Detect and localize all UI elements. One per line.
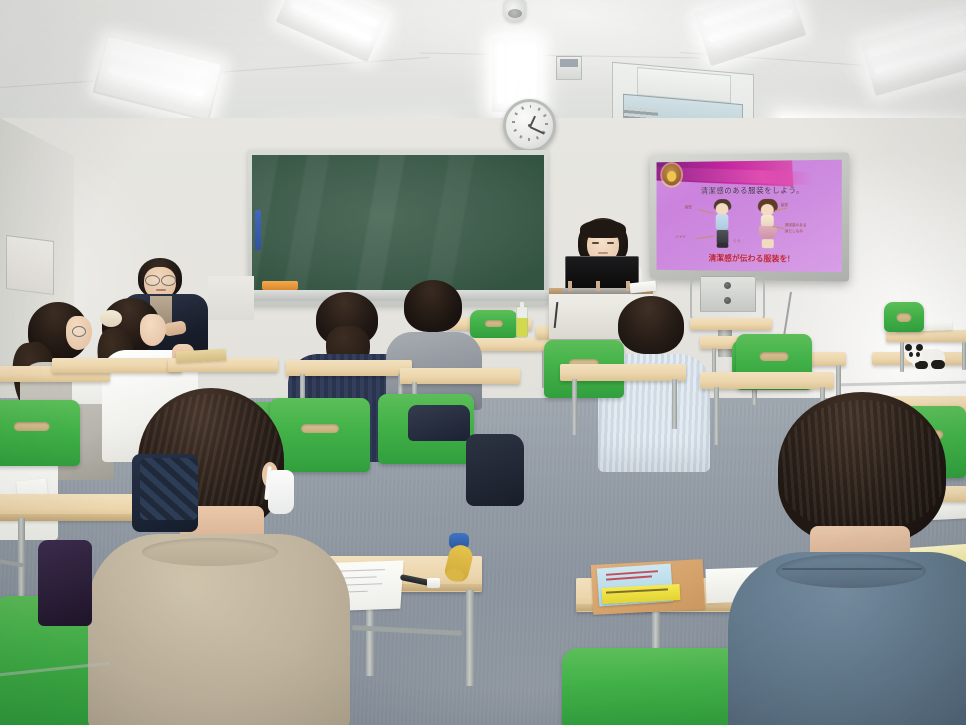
slide-girl-figure: [757, 199, 781, 249]
slide-boy-figure: [712, 199, 735, 249]
bag-purple: [38, 540, 92, 626]
chair[interactable]: [884, 302, 924, 332]
face-profile: [140, 314, 166, 346]
mouth: [156, 289, 166, 291]
plaid-pattern: [140, 458, 198, 520]
attendee-blue-fleece: [748, 392, 966, 725]
desk-leg: [466, 590, 474, 686]
collar: [142, 538, 278, 566]
classroom-photo: 清潔感のある服装をしよう。 髪型 髪型 清潔感のある 身だしなみ シャツ: [0, 0, 966, 725]
chair[interactable]: [0, 400, 80, 466]
glasses-icon: [161, 275, 176, 286]
desk: [560, 364, 686, 381]
slide-mascot-badge: [662, 164, 681, 186]
wall-panel: [6, 235, 54, 295]
chalkboard-eraser: [262, 281, 298, 290]
desk-leg: [18, 518, 25, 598]
podium-device: [596, 281, 600, 291]
desk-leg: [962, 342, 966, 370]
clock-hour-hand: [529, 115, 536, 127]
water-bottle: [516, 306, 528, 338]
smoke-detector-icon: [504, 0, 526, 22]
desk-leg: [714, 387, 719, 445]
desk: [700, 372, 834, 389]
desk: [52, 358, 182, 373]
ceiling-speaker: [556, 56, 582, 80]
desk-leg: [900, 342, 904, 372]
hair: [404, 280, 462, 332]
hair-scrunchie: [100, 310, 122, 327]
wall-clock: [503, 99, 556, 152]
glasses-icon: [145, 275, 160, 286]
magnet-strip: [255, 210, 261, 250]
wall-segment: [208, 276, 254, 320]
wall-mounted-tv[interactable]: 清潔感のある服装をしよう。 髪型 髪型 清潔感のある 身だしなみ シャツ: [650, 152, 849, 281]
face-mask: [268, 470, 294, 514]
podium-device: [568, 281, 572, 291]
slide-title: 清潔感のある服装をしよう。: [679, 184, 827, 196]
tv-screen: 清潔感のある服装をしよう。 髪型 髪型 清潔感のある 身だしなみ シャツ: [657, 160, 842, 273]
hair: [618, 296, 684, 354]
slide-annotation: 清潔感のある: [785, 223, 807, 228]
hair-texture: [780, 400, 944, 528]
slide-annotation: くつ: [733, 239, 740, 244]
blackboard-surface: [252, 155, 544, 291]
fleece-collar: [776, 554, 926, 588]
panda-plush: [905, 345, 949, 369]
backpack-dark: [466, 434, 524, 506]
slide-annotation: 身だしなみ: [785, 229, 803, 234]
slide-annotation: 髪型: [685, 205, 692, 210]
tv-cart-handle-right[interactable]: [754, 276, 765, 324]
desk: [400, 368, 520, 384]
glasses-icon: [72, 326, 86, 337]
desk-leg: [672, 379, 677, 429]
backpack-dark: [408, 405, 470, 441]
slide-footer-text: 清潔感が伝わる服装を!: [672, 252, 830, 265]
slide-annotation: シャツ: [675, 235, 685, 240]
collar-seam: [782, 568, 922, 570]
presenter-fringe: [580, 220, 626, 238]
attendee-masked-beige: [96, 388, 346, 725]
desk-leg: [572, 379, 577, 435]
eraser: [427, 578, 440, 588]
